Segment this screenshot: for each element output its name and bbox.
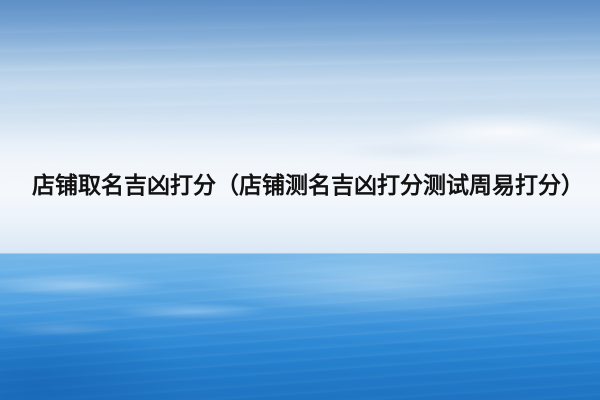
sky-background xyxy=(0,0,600,254)
photo-scene: 店铺取名吉凶打分（店铺测名吉凶打分测试周易打分） xyxy=(0,0,600,400)
sea-background xyxy=(0,254,600,400)
page-title: 店铺取名吉凶打分（店铺测名吉凶打分测试周易打分） xyxy=(32,168,578,204)
sea-deep-water-left xyxy=(0,280,260,400)
title-overlay: 店铺取名吉凶打分（店铺测名吉凶打分测试周易打分） xyxy=(32,168,578,204)
